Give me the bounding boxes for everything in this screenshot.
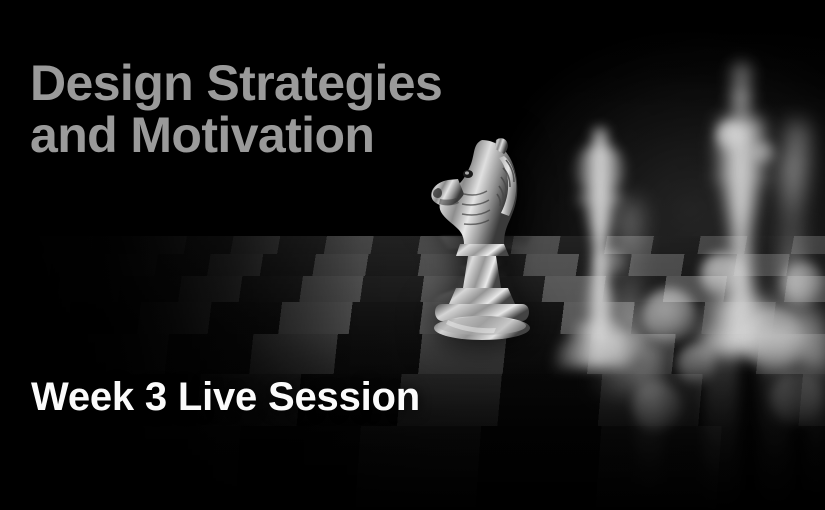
chess-knight-piece: [418, 136, 544, 344]
blurred-chess-piece-bishop: [552, 126, 648, 378]
slide-title: Design Strategies and Motivation: [30, 57, 442, 161]
blurred-chess-piece-rear: [760, 120, 825, 370]
presentation-slide: Design Strategies and Motivation Week 3 …: [0, 0, 825, 510]
board-row: [0, 426, 825, 510]
slide-subtitle: Week 3 Live Session: [31, 375, 420, 419]
